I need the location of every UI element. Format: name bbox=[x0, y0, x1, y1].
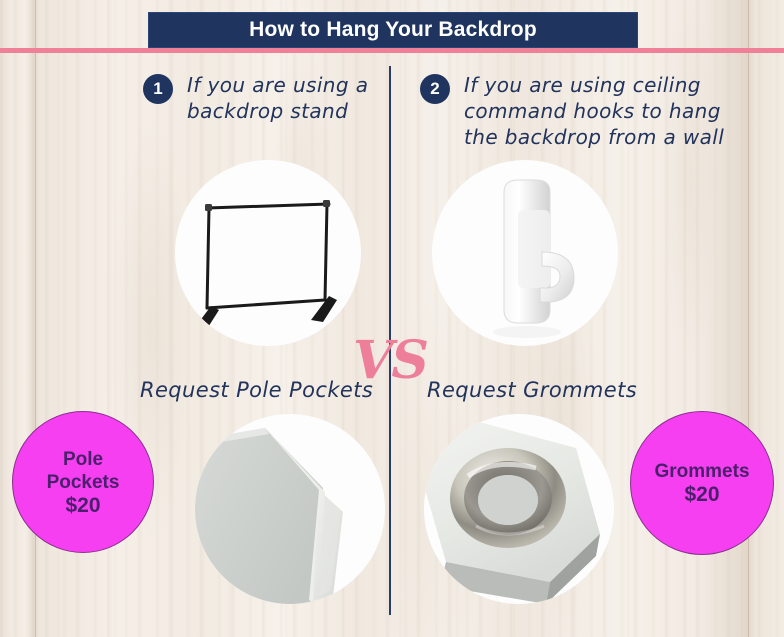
left-caption: Request Pole Pockets bbox=[140, 378, 373, 402]
pole-pocket-fabric-icon bbox=[195, 414, 385, 604]
step-2-heading: 2 If you are using ceiling command hooks… bbox=[420, 72, 724, 150]
plank-seam-left bbox=[35, 0, 36, 637]
step-2-line-3: the backdrop from a wall bbox=[464, 124, 724, 150]
step-2-number-badge: 2 bbox=[420, 74, 450, 104]
pole-badge-line-2: Pockets bbox=[47, 471, 120, 494]
pole-pockets-price-badge[interactable]: Pole Pockets $20 bbox=[12, 411, 154, 553]
grommets-price-badge[interactable]: Grommets $20 bbox=[630, 411, 774, 555]
page-title-bar: How to Hang Your Backdrop bbox=[148, 12, 638, 48]
step-1-heading: 1 If you are using a backdrop stand bbox=[143, 72, 368, 124]
grommet-photo bbox=[424, 414, 614, 604]
command-hook-icon bbox=[432, 160, 618, 346]
pole-pocket-photo bbox=[195, 414, 385, 604]
step-2-line-2: command hooks to hang bbox=[464, 98, 724, 124]
versus-label: VS bbox=[353, 330, 427, 391]
plank-seam-right bbox=[748, 0, 749, 637]
pole-badge-line-1: Pole bbox=[63, 448, 103, 471]
accent-rule bbox=[0, 48, 784, 53]
backdrop-stand-icon bbox=[175, 160, 361, 346]
step-2-text: If you are using ceiling command hooks t… bbox=[464, 72, 724, 150]
backdrop-stand-photo bbox=[175, 160, 361, 346]
step-1-line-1: If you are using a bbox=[187, 72, 368, 98]
right-caption: Request Grommets bbox=[427, 378, 637, 402]
grommet-badge-amount: $20 bbox=[684, 483, 719, 506]
command-hook-photo bbox=[432, 160, 618, 346]
step-1-line-2: backdrop stand bbox=[187, 98, 368, 124]
grommet-badge-line-1: Grommets bbox=[654, 460, 749, 483]
pole-badge-amount: $20 bbox=[65, 494, 100, 517]
grommet-eyelet-icon bbox=[424, 414, 614, 604]
page-title: How to Hang Your Backdrop bbox=[249, 18, 537, 42]
infographic-canvas: How to Hang Your Backdrop 1 If you are u… bbox=[0, 0, 784, 637]
step-1-number-badge: 1 bbox=[143, 74, 173, 104]
step-2-line-1: If you are using ceiling bbox=[464, 72, 724, 98]
step-1-text: If you are using a backdrop stand bbox=[187, 72, 368, 124]
